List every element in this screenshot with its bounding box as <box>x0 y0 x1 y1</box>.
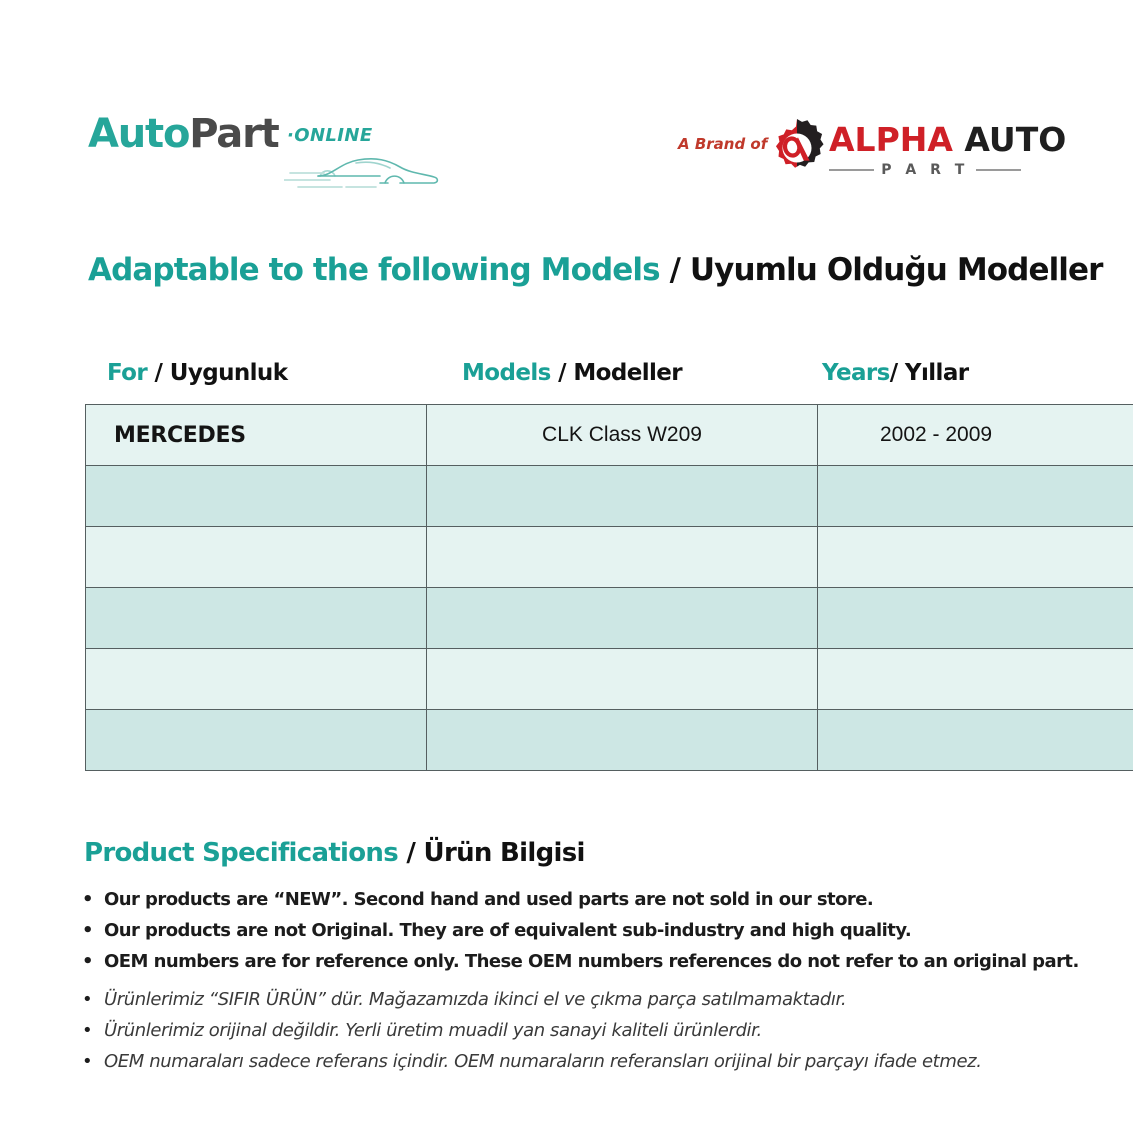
specs-list: Our products are “NEW”. Second hand and … <box>76 884 1056 1077</box>
alpha-rule-right <box>976 169 1021 171</box>
cell-years <box>818 710 1133 771</box>
column-header-models-tr: Modeller <box>573 360 682 386</box>
cell-years <box>818 649 1133 710</box>
cell-model <box>427 527 818 588</box>
alpha-part-subrow: P A R T <box>829 162 1021 178</box>
column-header-for-sep: / <box>147 360 170 386</box>
specs-title-en: Product Specifications <box>84 838 398 868</box>
cell-for <box>86 710 427 771</box>
cell-years <box>818 588 1133 649</box>
cell-model <box>427 466 818 527</box>
table-row <box>86 588 1133 649</box>
column-header-models-sep: / <box>551 360 574 386</box>
alpha-rule-left <box>829 169 874 171</box>
alpha-auto-part-logo: ALPHA AUTO P A R T <box>766 112 1021 188</box>
list-item: OEM numaraları sadece referans içindir. … <box>76 1046 1056 1077</box>
compatibility-table: MERCEDES CLK Class W209 2002 - 2009 <box>85 404 1133 771</box>
brand-of-label: A Brand of <box>678 135 767 153</box>
cell-for: MERCEDES <box>86 405 427 466</box>
cell-for <box>86 527 427 588</box>
cell-model: CLK Class W209 <box>427 405 818 466</box>
column-header-models: Models / Modeller <box>462 360 682 386</box>
cell-model <box>427 710 818 771</box>
table-row <box>86 710 1133 771</box>
alpha-wordmark: ALPHA AUTO <box>829 121 1066 159</box>
specs-title-tr: Ürün Bilgisi <box>424 838 585 868</box>
column-header-for-en: For <box>107 360 147 386</box>
cell-years <box>818 527 1133 588</box>
cell-years <box>818 466 1133 527</box>
models-title-en: Adaptable to the following Models <box>88 252 660 288</box>
column-header-years-tr: Yıllar <box>905 360 969 386</box>
table-row <box>86 649 1133 710</box>
list-item: Ürünlerimiz “SIFIR ÜRÜN” dür. Mağazamızd… <box>76 984 1056 1015</box>
models-title-tr: Uyumlu Olduğu Modeller <box>690 252 1103 288</box>
table-row <box>86 466 1133 527</box>
alpha-gear-icon <box>766 117 828 179</box>
models-section-title: Adaptable to the following Models / Uyum… <box>88 252 1103 288</box>
specs-section-title: Product Specifications / Ürün Bilgisi <box>84 838 585 868</box>
list-item: Ürünlerimiz orijinal değildir. Yerli üre… <box>76 1015 1056 1046</box>
column-header-years-sep: / <box>890 360 905 386</box>
models-title-separator: / <box>660 252 690 288</box>
list-item: Our products are “NEW”. Second hand and … <box>76 884 1056 915</box>
alpha-word-auto: AUTO <box>953 120 1066 159</box>
column-header-for-tr: Uygunluk <box>170 360 288 386</box>
cell-for <box>86 649 427 710</box>
cell-for <box>86 588 427 649</box>
autopart-online-logo: AutoPart ·ONLINE <box>88 110 448 195</box>
list-item: OEM numbers are for reference only. Thes… <box>76 946 1056 977</box>
autopart-wordmark: AutoPart <box>88 110 279 158</box>
table-row: MERCEDES CLK Class W209 2002 - 2009 <box>86 405 1133 466</box>
table-row <box>86 527 1133 588</box>
page-header: AutoPart ·ONLINE A Brand of <box>0 0 1133 210</box>
column-header-models-en: Models <box>462 360 551 386</box>
specs-title-separator: / <box>398 838 424 868</box>
cell-for <box>86 466 427 527</box>
sports-car-outline-icon <box>284 143 444 195</box>
list-item: Our products are not Original. They are … <box>76 915 1056 946</box>
autopart-word-auto: Auto <box>88 111 189 157</box>
column-header-for: For / Uygunluk <box>107 360 287 386</box>
cell-model <box>427 588 818 649</box>
column-header-years: Years/ Yıllar <box>822 360 969 386</box>
column-header-years-en: Years <box>822 360 890 386</box>
compatibility-table-headers: For / Uygunluk Models / Modeller Years/ … <box>85 360 1026 400</box>
alpha-word-alpha: ALPHA <box>829 120 953 159</box>
alpha-word-part: P A R T <box>881 162 969 178</box>
cell-model <box>427 649 818 710</box>
autopart-word-part: Part <box>189 111 278 157</box>
cell-years: 2002 - 2009 <box>818 405 1133 466</box>
